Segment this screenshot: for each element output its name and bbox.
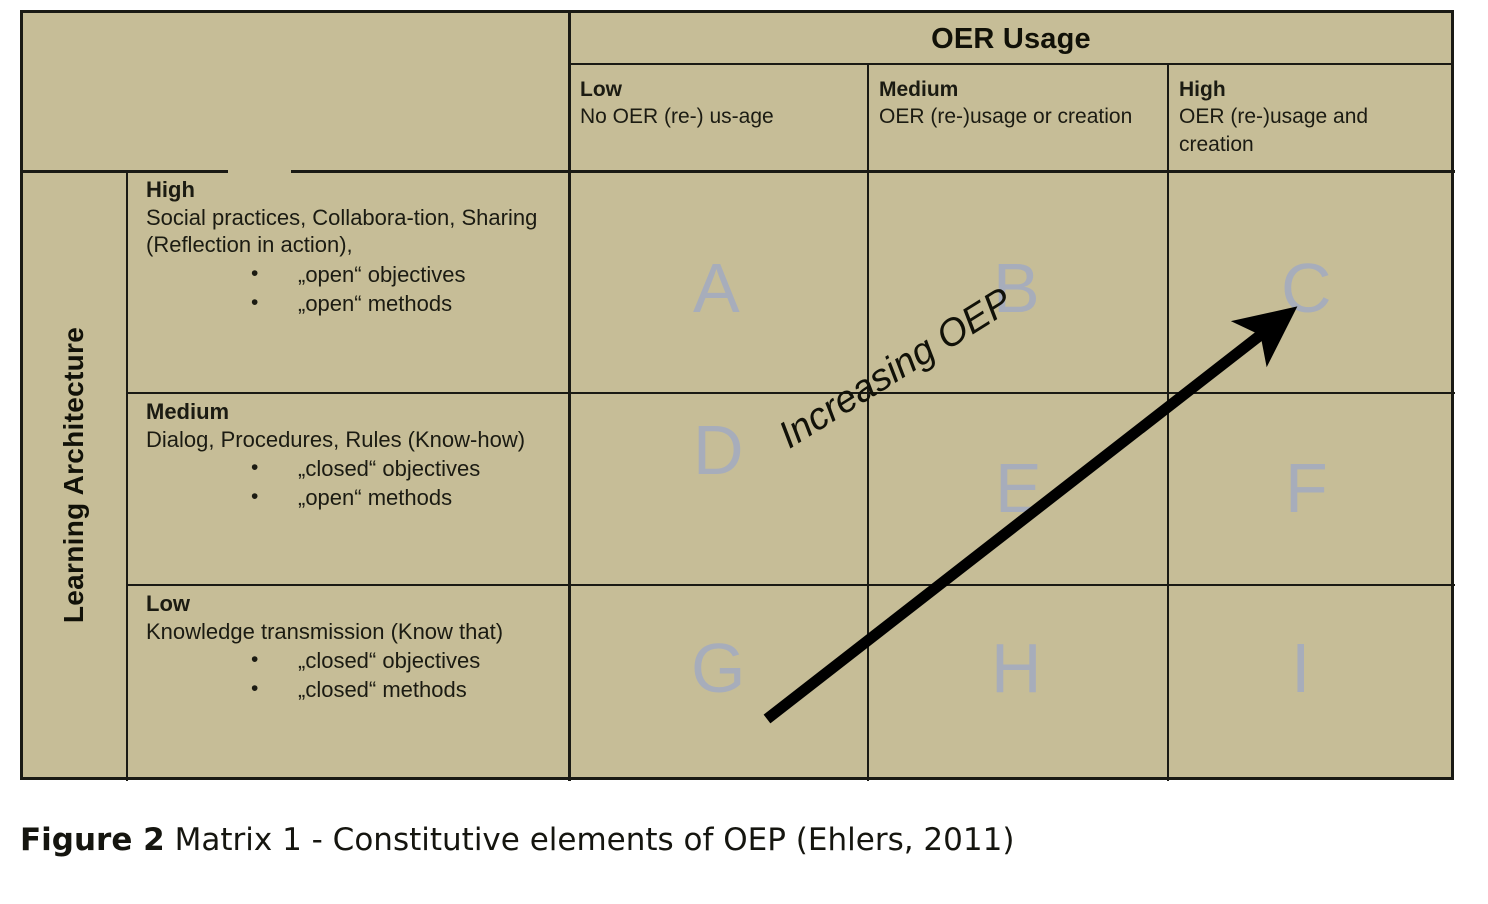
- column-header-low: Low No OER (re-) us-age: [570, 71, 867, 176]
- row-axis-title: Learning Architecture: [58, 327, 90, 623]
- row-header-low-bullets: „closed“ objectives „closed“ methods: [146, 647, 564, 704]
- matrix-cell-letter-h: H: [991, 633, 1042, 703]
- column-header-high-level: High: [1179, 76, 1447, 103]
- column-header-medium-description: OER (re-)usage or creation: [879, 103, 1159, 130]
- row-header-medium-description: Dialog, Procedures, Rules (Know-how): [146, 426, 564, 454]
- row-header-low: Low Knowledge transmission (Know that) „…: [128, 586, 570, 781]
- column-header-medium: Medium OER (re-)usage or creation: [869, 71, 1167, 176]
- row-header-high-level: High: [146, 176, 564, 204]
- column-header-high-description: OER (re-)usage and creation: [1179, 103, 1447, 158]
- list-item: „closed“ methods: [146, 676, 564, 705]
- rule-header-title-bottom: [570, 63, 1452, 65]
- figure-caption-label: Figure 2: [20, 822, 165, 858]
- matrix-cell-letter-d: D: [693, 415, 744, 485]
- row-header-low-description: Knowledge transmission (Know that): [146, 618, 564, 646]
- column-header-medium-level: Medium: [879, 76, 1159, 103]
- figure-caption: Figure 2 Matrix 1 - Constitutive element…: [20, 822, 1014, 858]
- list-item: „open“ methods: [146, 484, 564, 513]
- row-header-low-level: Low: [146, 590, 564, 618]
- matrix-cell-letter-f: F: [1285, 453, 1328, 523]
- row-header-medium-level: Medium: [146, 398, 564, 426]
- row-header-high-bullets: „open“ objectives „open“ methods: [146, 261, 564, 318]
- row-header-medium-bullets: „closed“ objectives „open“ methods: [146, 455, 564, 512]
- matrix-cell-letter-c: C: [1281, 253, 1332, 323]
- matrix-table: OER Usage Low No OER (re-) us-age Medium…: [20, 10, 1454, 780]
- figure-caption-text: Matrix 1 - Constitutive elements of OEP …: [175, 822, 1015, 858]
- column-header-high: High OER (re-)usage and creation: [1169, 71, 1455, 176]
- row-header-medium: Medium Dialog, Procedures, Rules (Know-h…: [128, 394, 570, 584]
- column-header-low-description: No OER (re-) us-age: [580, 103, 859, 130]
- row-header-high: High Social practices, Collabora-tion, S…: [128, 172, 570, 392]
- list-item: „closed“ objectives: [146, 647, 564, 676]
- list-item: „open“ methods: [146, 290, 564, 319]
- column-header-low-level: Low: [580, 76, 859, 103]
- row-header-high-description: Social practices, Collabora-tion, Sharin…: [146, 204, 564, 259]
- list-item: „open“ objectives: [146, 261, 564, 290]
- increasing-oep-label: Increasing OEP: [772, 280, 1020, 457]
- matrix-cell-letter-g: G: [691, 633, 745, 703]
- figure-2-oep-matrix: OER Usage Low No OER (re-) us-age Medium…: [0, 0, 1488, 904]
- figure-caption-spacer: [165, 822, 175, 858]
- matrix-cell-letter-e: E: [995, 453, 1042, 523]
- list-item: „closed“ objectives: [146, 455, 564, 484]
- matrix-cell-letter-a: A: [693, 253, 740, 323]
- row-axis-title-container: Learning Architecture: [23, 170, 125, 780]
- matrix-cell-letter-i: I: [1291, 633, 1310, 703]
- column-axis-title: OER Usage: [570, 15, 1452, 63]
